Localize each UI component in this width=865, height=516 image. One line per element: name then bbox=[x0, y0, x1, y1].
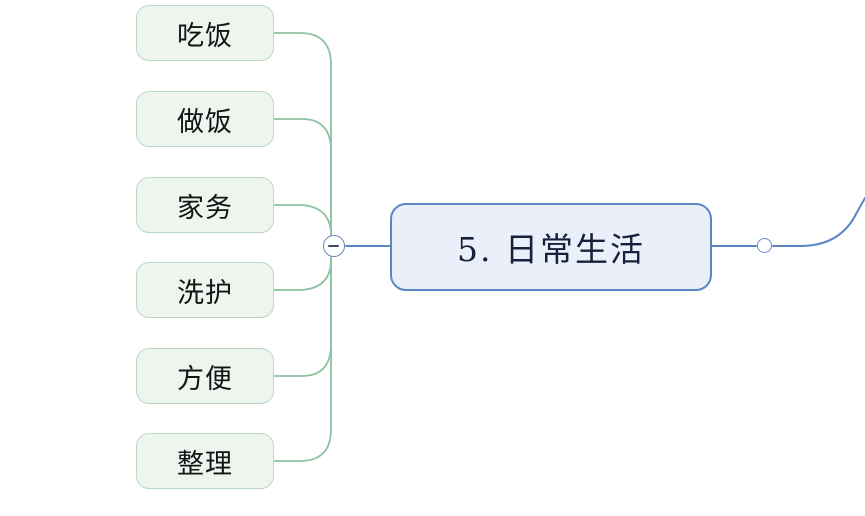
child-node-label: 做饭 bbox=[177, 100, 233, 139]
connector-child-3 bbox=[274, 205, 331, 238]
child-node-label: 家务 bbox=[177, 186, 233, 225]
mindmap-child-node-3[interactable]: 家务 bbox=[136, 177, 274, 233]
child-node-label: 方便 bbox=[177, 357, 233, 396]
mindmap-child-node-5[interactable]: 方便 bbox=[136, 348, 274, 404]
mindmap-child-node-1[interactable]: 吃饭 bbox=[136, 5, 274, 61]
connector-child-5 bbox=[274, 257, 331, 376]
mindmap-canvas: 吃饭 做饭 家务 洗护 方便 整理 5. 日常生活 bbox=[0, 0, 865, 516]
mindmap-central-node[interactable]: 5. 日常生活 bbox=[390, 203, 712, 291]
connector-child-4 bbox=[274, 257, 331, 290]
child-node-label: 洗护 bbox=[177, 271, 233, 310]
child-node-label: 整理 bbox=[177, 442, 233, 481]
connector-child-6 bbox=[274, 257, 331, 461]
mindmap-child-node-6[interactable]: 整理 bbox=[136, 433, 274, 489]
child-node-label: 吃饭 bbox=[177, 14, 233, 53]
mindmap-child-node-2[interactable]: 做饭 bbox=[136, 91, 274, 147]
central-node-label: 5. 日常生活 bbox=[457, 223, 645, 271]
collapse-minus-icon[interactable] bbox=[323, 235, 345, 257]
connector-child-1 bbox=[274, 33, 331, 235]
mindmap-child-node-4[interactable]: 洗护 bbox=[136, 262, 274, 318]
expand-circle-icon[interactable] bbox=[757, 238, 772, 253]
connector-expand-outward bbox=[773, 198, 865, 246]
connector-child-2 bbox=[274, 119, 331, 235]
